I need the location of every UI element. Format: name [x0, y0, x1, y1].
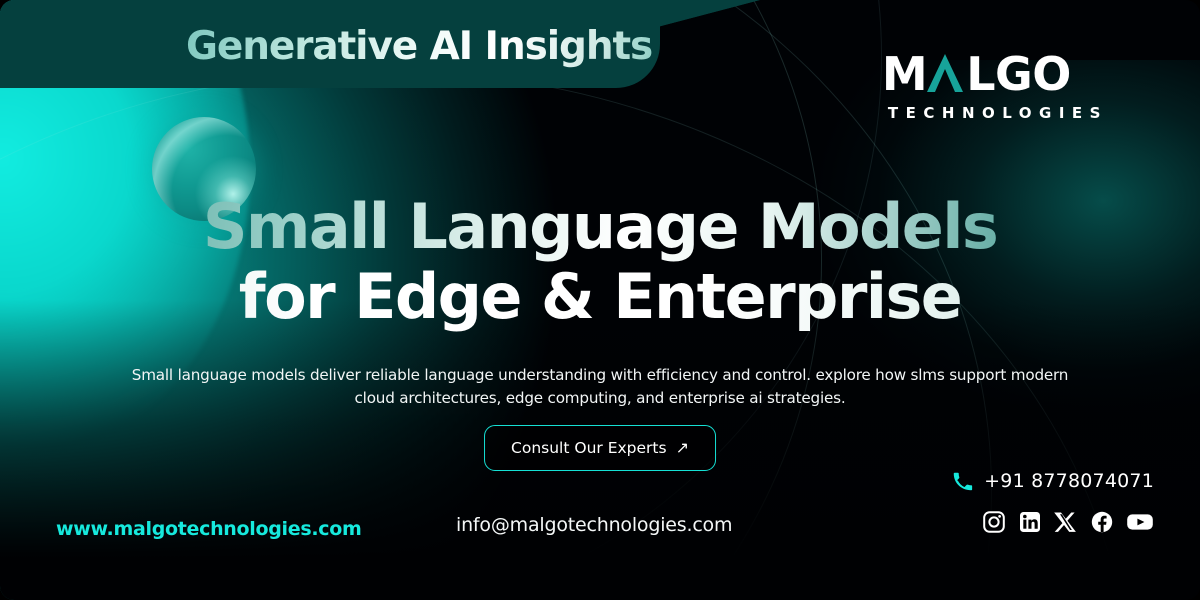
consult-our-experts-button[interactable]: Consult Our Experts ↗	[484, 425, 716, 471]
phone-number: +91 8778074071	[984, 470, 1154, 492]
logo-letter-a-icon	[925, 51, 965, 95]
facebook-icon[interactable]	[1090, 510, 1114, 534]
instagram-icon[interactable]	[982, 510, 1006, 534]
headline-line-1: Small Language Models	[0, 192, 1200, 262]
logo-letters-lgo: LGO	[966, 52, 1071, 96]
phone-icon	[952, 471, 973, 492]
logo-letter-m: M	[882, 52, 927, 96]
subcopy-paragraph: Small language models deliver reliable l…	[116, 364, 1084, 410]
logo-tagline: TECHNOLOGIES	[882, 104, 1108, 122]
cta-label: Consult Our Experts	[511, 439, 667, 457]
logo-wordmark: M LGO	[882, 50, 1108, 96]
x-twitter-icon[interactable]	[1054, 510, 1078, 534]
headline-line-2: for Edge & Enterprise	[0, 262, 1200, 332]
linkedin-icon[interactable]	[1018, 510, 1042, 534]
headline: Small Language Models for Edge & Enterpr…	[0, 192, 1200, 332]
youtube-icon[interactable]	[1126, 510, 1154, 534]
promo-banner: Generative AI Insights M LGO TECHNOLOGIE…	[0, 0, 1200, 600]
malgo-logo: M LGO TECHNOLOGIES	[882, 50, 1108, 122]
social-links	[982, 510, 1154, 534]
email-link[interactable]: info@malgotechnologies.com	[456, 514, 732, 536]
website-link[interactable]: www.malgotechnologies.com	[56, 518, 362, 540]
arrow-up-right-icon: ↗	[676, 440, 689, 456]
eyebrow-title: Generative AI Insights	[186, 24, 652, 69]
phone-contact[interactable]: +91 8778074071	[952, 470, 1154, 492]
